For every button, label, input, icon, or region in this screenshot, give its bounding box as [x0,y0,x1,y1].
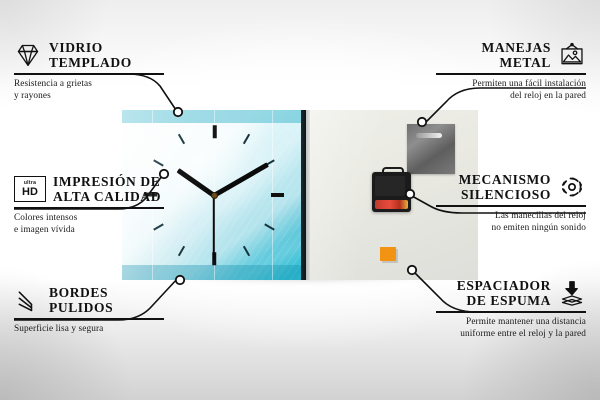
callout-rule-bordes [14,318,164,320]
callout-desc-manejas: Permiten una fácil instalación del reloj… [436,78,586,103]
callout-impresion-alta-calidad: ultra HD IMPRESIÓN DE ALTA CALIDAD Color… [14,174,164,236]
gear-icon [558,174,586,200]
product-image [122,110,478,282]
callout-desc-mecanismo: Las manecillas del reloj no emiten ningú… [436,210,586,235]
callout-bordes-pulidos: BORDES PULIDOS Superficie lisa y segura [14,285,164,335]
infographic-canvas: VIDRIO TEMPLADO Resistencia a grietas y … [0,0,600,400]
callout-title-manejas: MANEJAS METAL [482,40,551,70]
callout-rule-manejas [436,73,586,75]
callout-desc-espaciador: Permite mantener una distancia uniforme … [436,316,586,341]
callout-rule-impresion [14,207,164,209]
callout-desc-bordes: Superficie lisa y segura [14,323,164,335]
callout-title-vidrio-templado: VIDRIO TEMPLADO [49,40,132,70]
ultra-hd-icon: ultra HD [14,176,46,202]
callout-header-espaciador: ESPACIADOR DE ESPUMA [436,278,586,308]
callout-title-bordes: BORDES PULIDOS [49,285,113,315]
callout-header-vidrio-templado: VIDRIO TEMPLADO [14,40,164,70]
foam-spacer-icon [558,280,586,306]
callout-title-mecanismo: MECANISMO SILENCIOSO [459,172,551,202]
callout-desc-vidrio-templado: Resistencia a grietas y rayones [14,78,164,103]
picture-frame-hanger-icon [558,42,586,68]
callout-mecanismo-silencioso: MECANISMO SILENCIOSO Las manecillas del … [436,172,586,234]
callout-desc-impresion: Colores intensos e imagen vívida [14,212,164,237]
callout-rule-espaciador [436,311,586,313]
callout-header-impresion: ultra HD IMPRESIÓN DE ALTA CALIDAD [14,174,164,204]
callout-header-bordes: BORDES PULIDOS [14,285,164,315]
callout-vidrio-templado: VIDRIO TEMPLADO Resistencia a grietas y … [14,40,164,102]
callout-rule-vidrio-templado [14,73,164,75]
callout-title-espaciador: ESPACIADOR DE ESPUMA [457,278,551,308]
callout-espaciador-espuma: ESPACIADOR DE ESPUMA Permite mantener un… [436,278,586,340]
diamond-icon [14,42,42,68]
callout-header-mecanismo: MECANISMO SILENCIOSO [436,172,586,202]
callout-title-impresion: IMPRESIÓN DE ALTA CALIDAD [53,174,161,204]
callout-header-manejas: MANEJAS METAL [436,40,586,70]
polished-edges-icon [14,287,42,313]
callout-rule-mecanismo [436,205,586,207]
callout-manejas-metal: MANEJAS METAL Permiten una fácil instala… [436,40,586,102]
